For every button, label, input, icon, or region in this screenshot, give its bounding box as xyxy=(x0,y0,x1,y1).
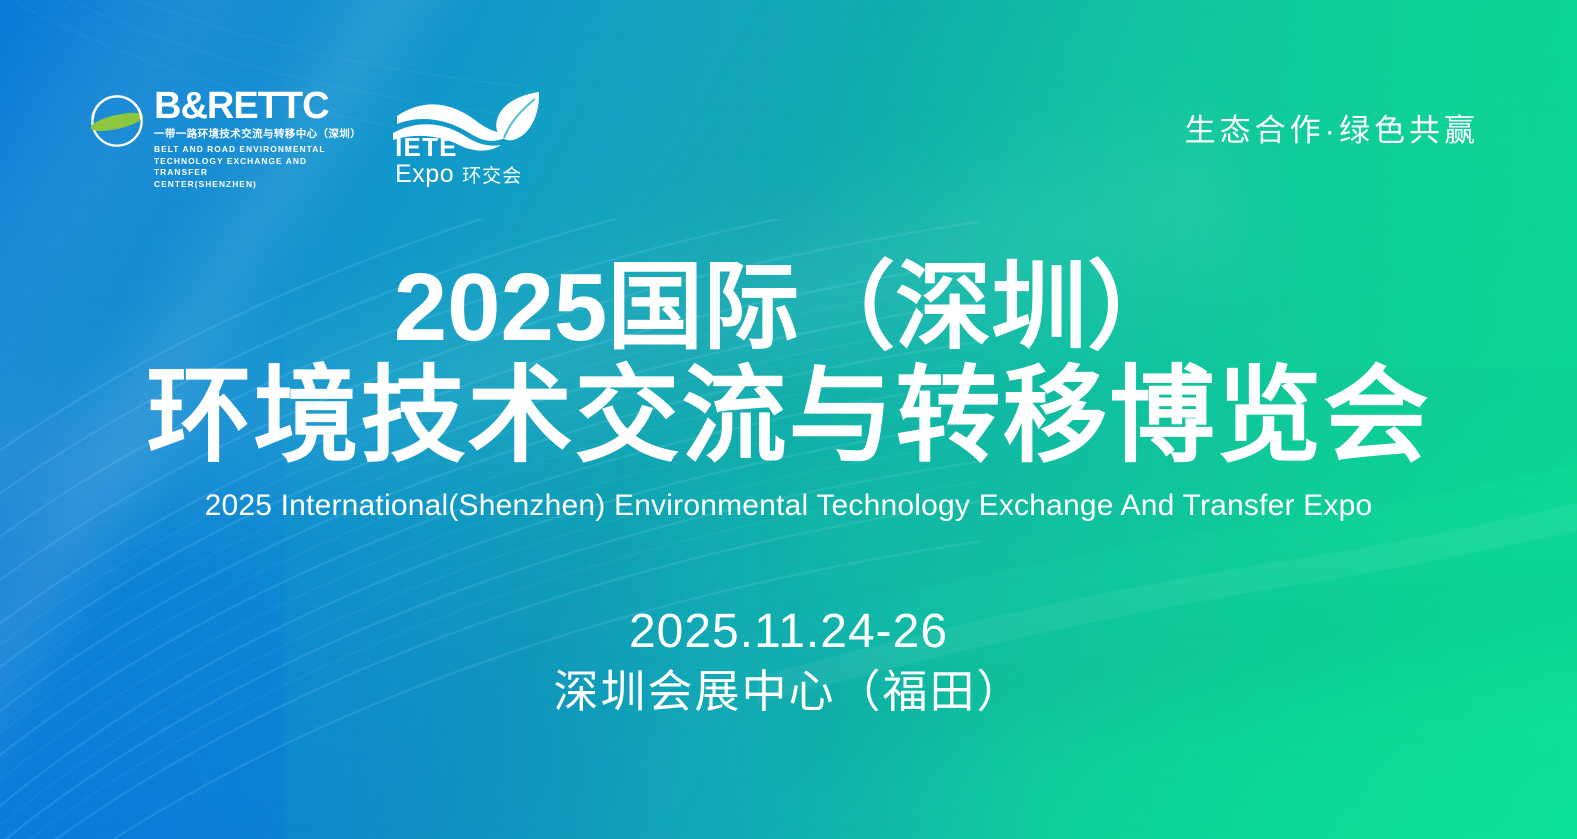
event-venue: 深圳会展中心（福田） xyxy=(0,665,1577,720)
banner-content: B&RETTC 一带一路环境技术交流与转移中心（深圳） BELT AND ROA… xyxy=(0,0,1577,839)
brettc-name-en-line1: BELT AND ROAD ENVIRONMENTAL xyxy=(154,144,359,156)
event-date: 2025.11.24-26 xyxy=(0,604,1577,661)
event-banner: B&RETTC 一带一路环境技术交流与转移中心（深圳） BELT AND ROA… xyxy=(0,0,1577,839)
iete-word-cn: 环交会 xyxy=(462,167,522,186)
globe-icon xyxy=(88,92,146,150)
iete-subtitle-row: Expo 环交会 xyxy=(395,162,522,187)
title-line-1: 2025国际（深圳） xyxy=(0,258,1577,358)
event-meta-block: 2025.11.24-26 深圳会展中心（福田） xyxy=(0,604,1577,720)
iete-text-block: IETE Expo 环交会 xyxy=(395,134,522,187)
logo-group: B&RETTC 一带一路环境技术交流与转移中心（深圳） BELT AND ROA… xyxy=(88,88,544,191)
title-line-2: 环境技术交流与转移博览会 xyxy=(0,362,1577,471)
brettc-name-en-line2: TECHNOLOGY EXCHANGE AND TRANSFER xyxy=(154,156,359,180)
iete-acronym: IETE xyxy=(395,134,522,160)
brettc-wordmark: B&RETTC xyxy=(154,88,361,124)
subtitle-english: 2025 International(Shenzhen) Environment… xyxy=(0,489,1577,523)
brettc-name-cn: 一带一路环境技术交流与转移中心（深圳） xyxy=(154,127,361,141)
brettc-name-en-line3: CENTER(SHENZHEN) xyxy=(154,179,359,191)
brettc-name-en: BELT AND ROAD ENVIRONMENTAL TECHNOLOGY E… xyxy=(154,144,359,192)
iete-word-expo: Expo xyxy=(395,162,454,187)
logo-iete-expo[interactable]: IETE Expo 环交会 xyxy=(389,90,544,190)
slogan-text: 生态合作·绿色共赢 xyxy=(1185,105,1479,150)
hero-title-block: 2025国际（深圳） 环境技术交流与转移博览会 2025 Internation… xyxy=(0,258,1577,523)
logo-brettc[interactable]: B&RETTC 一带一路环境技术交流与转移中心（深圳） BELT AND ROA… xyxy=(88,88,361,191)
brettc-text-block: B&RETTC 一带一路环境技术交流与转移中心（深圳） BELT AND ROA… xyxy=(154,88,361,191)
